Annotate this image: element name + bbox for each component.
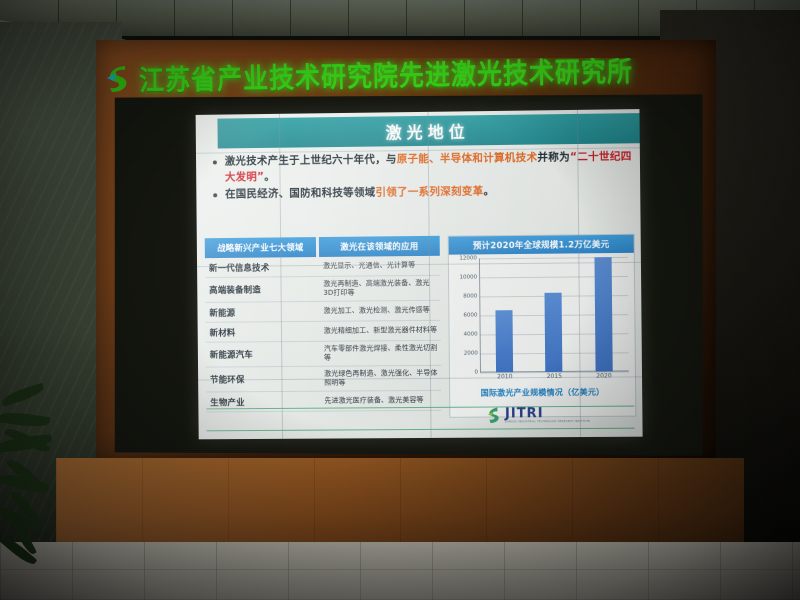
bullet-text-run: 原子能、半导体和计算机技术	[397, 152, 538, 166]
banner-title: 江苏省产业技术研究院先进激光技术研究所	[139, 58, 634, 99]
table-cell-domain: 新能源汽车	[206, 345, 321, 364]
y-axis-tick-label: 6000	[463, 312, 477, 318]
x-axis-labels: 201020152020	[480, 372, 629, 386]
table-cell-application: 激光再制造、高端激光装备、激光3D打印等	[320, 276, 440, 301]
table-cell-application: 汽车零部件激光焊接、柔性激光切割等	[321, 341, 441, 366]
ceiling-slat	[580, 0, 581, 36]
ceiling-slat	[290, 0, 291, 36]
bar-column	[531, 257, 577, 372]
bullet-text-run: 在国民经济、国防和科技等领域	[225, 186, 375, 200]
table-cell-application: 激光显示、光通信、光计算等	[320, 258, 440, 274]
table-cell-domain: 新材料	[206, 322, 321, 341]
ceiling-slat	[406, 0, 407, 36]
table-row: 新一代信息技术激光显示、光通信、光计算等	[205, 256, 440, 278]
ceiling-slat	[638, 0, 639, 36]
tile-floor	[0, 542, 800, 600]
x-axis-tick-label: 2015	[532, 373, 577, 386]
table-body: 新一代信息技术激光显示、光通信、光计算等高端装备制造激光再制造、高端激光装备、激…	[205, 256, 441, 413]
table-header-row: 战略新兴产业七大领域 激光在该领域的应用	[205, 236, 440, 258]
table-row: 新材料激光精细加工、新型激光器件材料等	[206, 321, 441, 343]
table-row: 新能源激光加工、激光检测、激光传感等	[205, 301, 440, 323]
bullet-text-run: 激光技术产生于上世纪六十年代，与	[225, 153, 397, 167]
jitri-wordmark: JITRI	[505, 407, 590, 421]
bullet-item: 激光技术产生于上世纪六十年代，与原子能、半导体和计算机技术并称为“二十世纪四大发…	[210, 149, 632, 185]
bar-column	[481, 258, 527, 373]
bullet-text-run: 。	[483, 185, 494, 197]
y-axis-tick-label: 12000	[459, 255, 477, 261]
projected-slide: 激光地位 激光技术产生于上世纪六十年代，与原子能、半导体和计算机技术并称为“二十…	[196, 109, 643, 439]
table-cell-domain: 新一代信息技术	[205, 257, 320, 276]
jitri-swoosh-logo	[486, 406, 501, 425]
jitri-subtext: JIANGSU INDUSTRIAL TECHNOLOGY RESEARCH I…	[505, 420, 590, 424]
potted-plant	[0, 392, 88, 572]
chart-plot-area: 120001000080006000400020000 201020152020	[453, 257, 631, 387]
bullet-text-run: 引领了一系列深刻变革	[375, 185, 483, 198]
y-axis-tick-label: 4000	[464, 331, 478, 337]
y-axis-tick-label: 0	[474, 370, 478, 376]
table-header-cell: 激光在该领域的应用	[319, 236, 440, 257]
chart-caption: 国际激光产业规模情况（亿美元）	[450, 386, 635, 398]
bullet-text-run: 。	[264, 170, 275, 182]
bar-column	[581, 257, 627, 372]
ceiling-slat	[348, 0, 349, 36]
bullet-list: 激光技术产生于上世纪六十年代，与原子能、半导体和计算机技术并称为“二十世纪四大发…	[210, 149, 632, 204]
plant-leaf	[0, 410, 50, 429]
x-axis-tick-label: 2010	[482, 373, 527, 386]
jitri-swoosh-logo	[104, 64, 132, 94]
jitri-logo: JITRI JIANGSU INDUSTRIAL TECHNOLOGY RESE…	[486, 406, 590, 426]
table-cell-application: 激光精细加工、新型激光器件材料等	[321, 323, 441, 339]
bullet-item: 在国民经济、国防和科技等领域引领了一系列深刻变革。	[210, 183, 632, 203]
ceiling-slat	[174, 0, 175, 36]
ceiling-slat	[232, 0, 233, 36]
y-axis: 120001000080006000400020000	[453, 258, 480, 372]
table-cell-domain: 高端装备制造	[205, 280, 320, 299]
table-row: 高端装备制造激光再制造、高端激光装备、激光3D打印等	[205, 276, 440, 303]
y-axis-tick-label: 2000	[464, 351, 478, 357]
chart-bar	[496, 310, 514, 372]
footer-rule-bottom	[207, 428, 635, 432]
table-row: 新能源汽车汽车零部件激光焊接、柔性激光切割等	[206, 341, 441, 368]
bullet-text-run: 并称为	[537, 151, 570, 163]
photo-scene: 江苏省产业技术研究院先进激光技术研究所 激光地位 激光技术产生于上世纪六十年代，…	[0, 0, 800, 600]
ceiling-slat	[464, 0, 465, 36]
industry-table: 战略新兴产业七大领域 激光在该领域的应用 新一代信息技术激光显示、光通信、光计算…	[205, 236, 442, 413]
y-axis-tick-label: 10000	[460, 274, 478, 280]
table-cell-application: 激光加工、激光检测、激光传感等	[321, 303, 441, 319]
ceiling-slat	[522, 0, 523, 36]
chart-title: 预计2020年全球规模1.2万亿美元	[449, 235, 634, 255]
table-cell-domain: 新能源	[205, 302, 320, 321]
chart-bar	[545, 293, 563, 372]
table-header-cell: 战略新兴产业七大领域	[205, 237, 316, 258]
chart-bar	[594, 257, 612, 372]
y-axis-tick-label: 8000	[463, 293, 477, 299]
banner: 江苏省产业技术研究院先进激光技术研究所	[104, 58, 734, 100]
jitri-logo-text-block: JITRI JIANGSU INDUSTRIAL TECHNOLOGY RESE…	[505, 407, 590, 424]
x-axis-tick-label: 2020	[582, 372, 627, 385]
chart-bars	[479, 257, 629, 373]
